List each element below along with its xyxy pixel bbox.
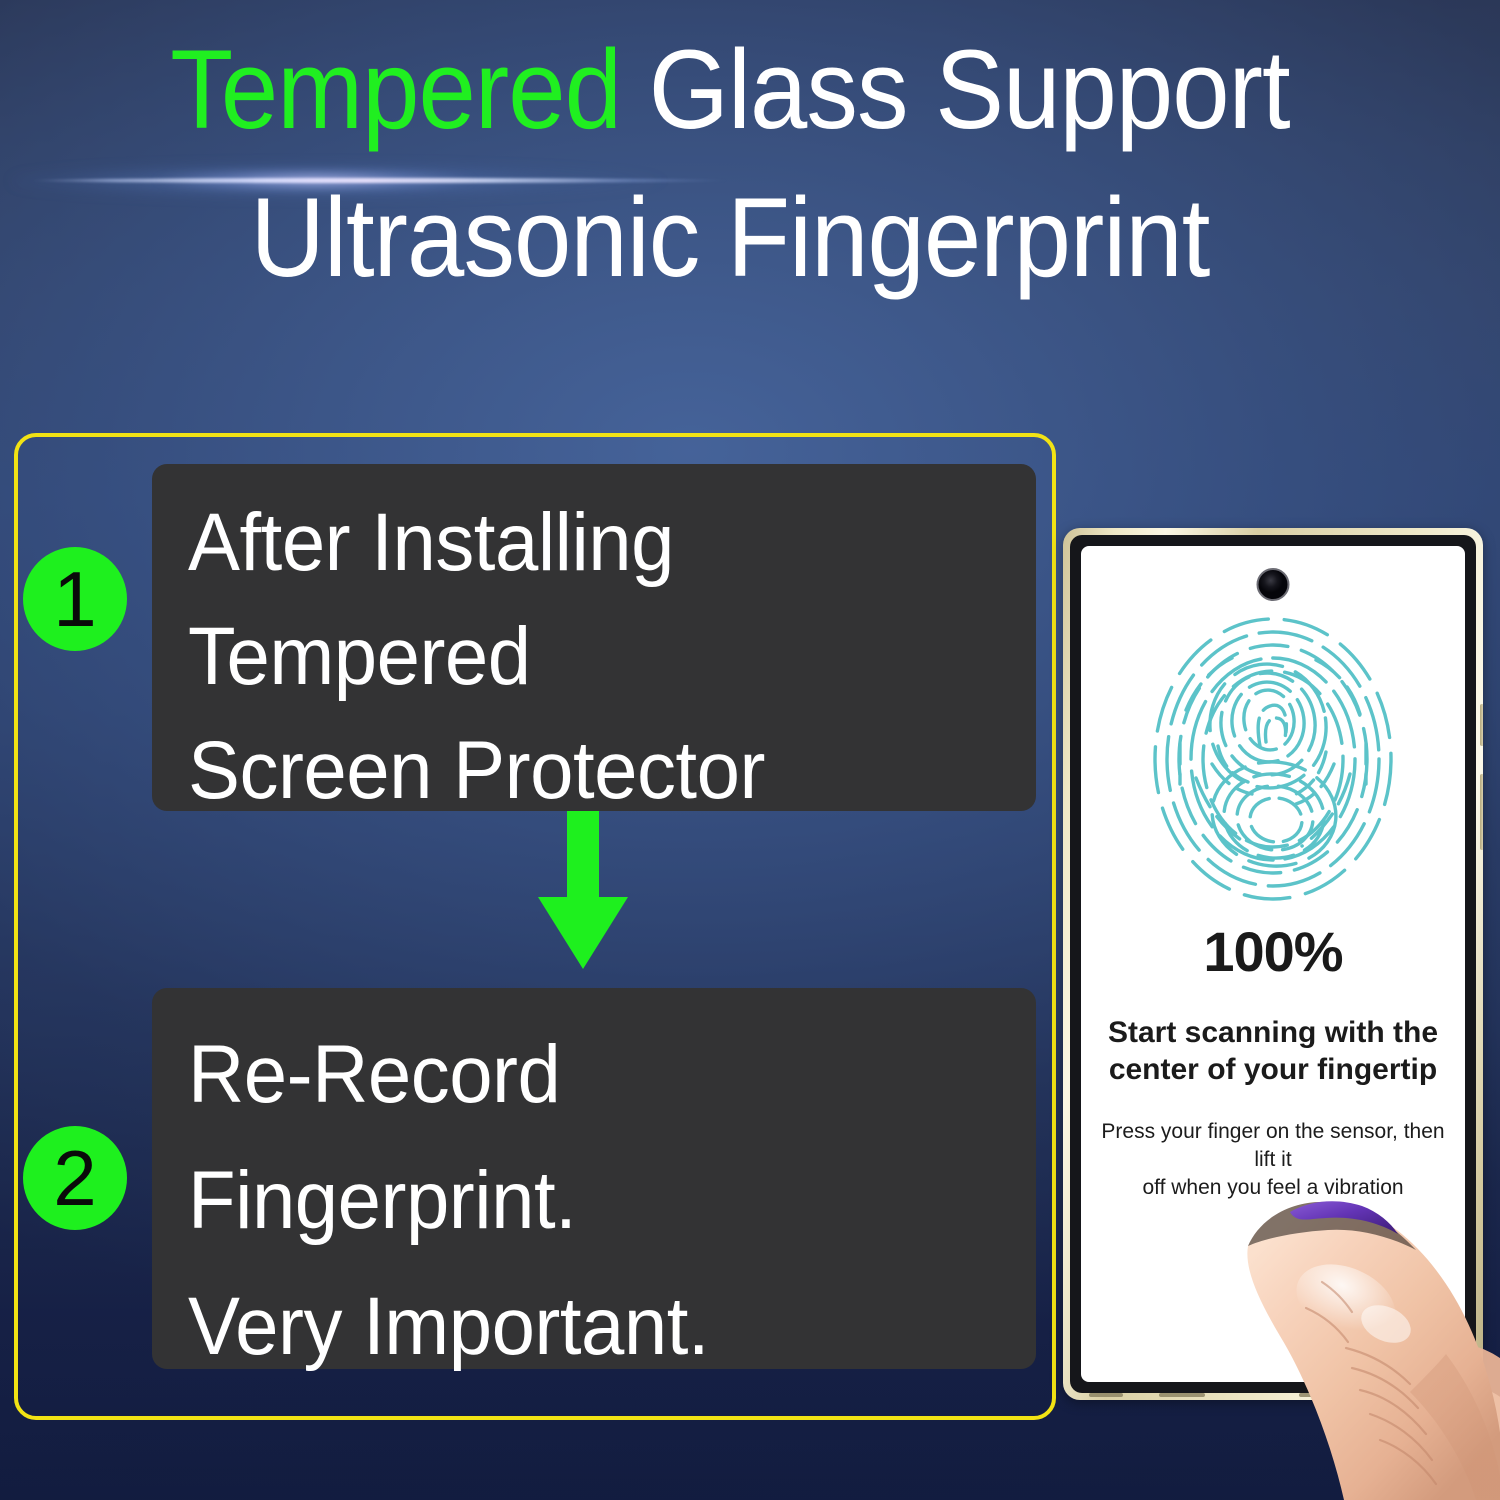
headline-green-word: Tempered [170, 27, 621, 152]
infographic-canvas: Tempered Glass Support Ultrasonic Finger… [0, 0, 1500, 1500]
fingerprint-icon [1148, 614, 1398, 904]
step-badge-1: 1 [23, 547, 127, 651]
step-2-line-2: Fingerprint. [188, 1138, 994, 1264]
headline-white-text: Glass Support [649, 27, 1290, 152]
down-arrow-icon [533, 811, 633, 969]
front-camera-icon [1257, 568, 1290, 601]
step-badge-2: 2 [23, 1126, 127, 1230]
fingerprint-graphic [1148, 614, 1398, 904]
phone-side-button-power [1480, 774, 1483, 850]
phone-side-button-volume [1480, 704, 1483, 746]
finger-illustration [1240, 1196, 1500, 1500]
scan-instruction-title: Start scanning with the center of your f… [1081, 1014, 1465, 1088]
scan-sub-line-1: Press your finger on the sensor, then li… [1093, 1118, 1453, 1174]
scan-progress-percent: 100% [1081, 924, 1465, 980]
step-1-line-1: After Installing [188, 486, 994, 600]
phone-speaker-slot-left [1089, 1393, 1123, 1397]
phone-speaker-slot-mid [1159, 1393, 1205, 1397]
scan-title-line-2: center of your fingertip [1081, 1051, 1465, 1088]
scan-title-line-1: Start scanning with the [1081, 1014, 1465, 1051]
step-card-1: After Installing Tempered Screen Protect… [152, 464, 1036, 811]
step-1-line-2: Tempered [188, 600, 994, 714]
step-2-line-3: Very Important. [188, 1264, 994, 1390]
step-2-line-1: Re-Record [188, 1012, 994, 1138]
subheadline: Ultrasonic Fingerprint [58, 182, 1401, 294]
scan-instruction-subtext: Press your finger on the sensor, then li… [1081, 1118, 1465, 1202]
step-card-2: Re-Record Fingerprint. Very Important. [152, 988, 1036, 1369]
headline: Tempered Glass Support [58, 34, 1401, 146]
